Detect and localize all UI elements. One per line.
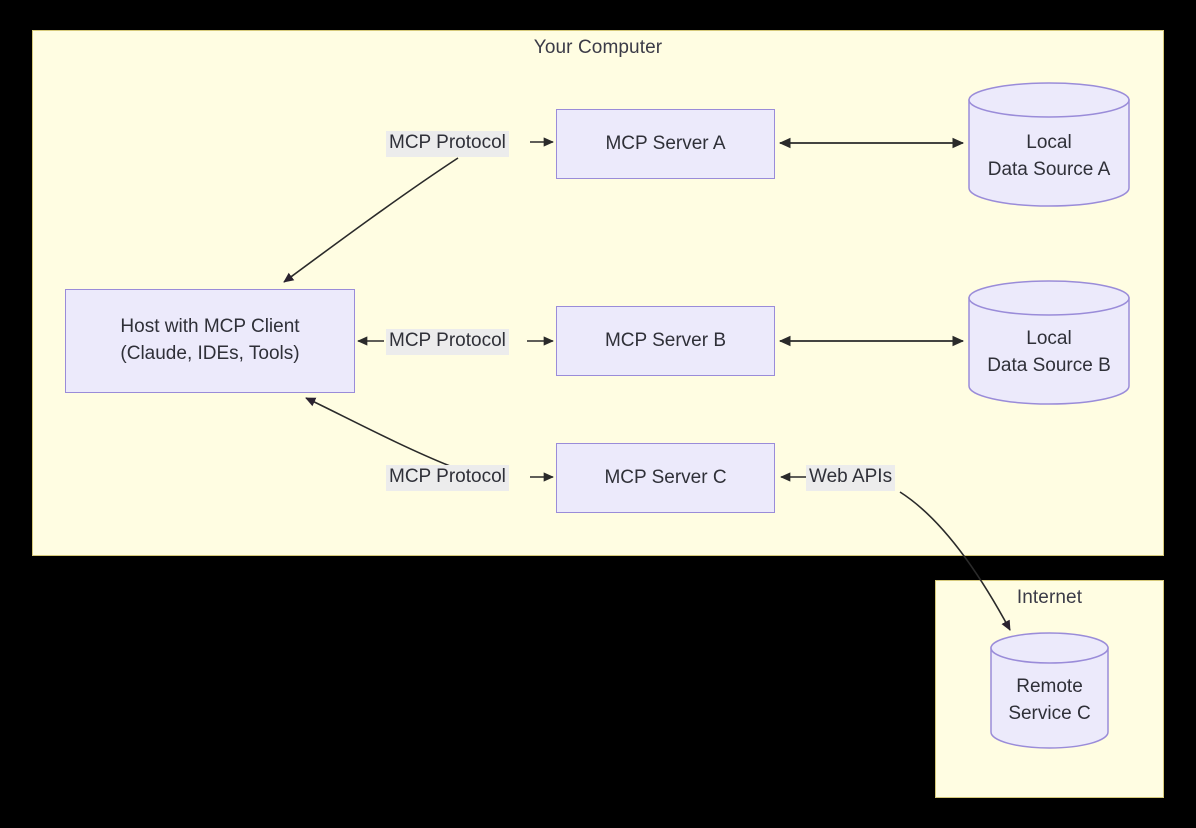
cylinder-shape-b bbox=[968, 280, 1130, 404]
edge-label-web-apis: Web APIs bbox=[806, 465, 895, 491]
node-mcp-server-a-label: MCP Server A bbox=[605, 131, 725, 158]
node-host-with-mcp-client[interactable]: Host with MCP Client (Claude, IDEs, Tool… bbox=[65, 289, 355, 393]
panel-internet-title: Internet bbox=[936, 587, 1163, 609]
node-mcp-server-c[interactable]: MCP Server C bbox=[556, 443, 775, 513]
node-host-line1: Host with MCP Client bbox=[120, 314, 299, 341]
node-mcp-server-a[interactable]: MCP Server A bbox=[556, 109, 775, 179]
cylinder-shape-a bbox=[968, 82, 1130, 206]
cylinder-shape-remote-c bbox=[990, 632, 1109, 749]
panel-your-computer-title: Your Computer bbox=[33, 37, 1163, 59]
node-mcp-server-b[interactable]: MCP Server B bbox=[556, 306, 775, 376]
node-remote-service-c[interactable]: Remote Service C bbox=[990, 632, 1109, 749]
node-mcp-server-b-label: MCP Server B bbox=[605, 328, 726, 355]
node-mcp-server-c-label: MCP Server C bbox=[604, 465, 726, 492]
node-host-line2: (Claude, IDEs, Tools) bbox=[120, 341, 299, 368]
node-local-data-source-a[interactable]: Local Data Source A bbox=[968, 82, 1130, 206]
node-local-data-source-b[interactable]: Local Data Source B bbox=[968, 280, 1130, 404]
edge-label-mcp-protocol-c: MCP Protocol bbox=[386, 465, 509, 491]
diagram-canvas: Your Computer Internet bbox=[0, 0, 1196, 828]
edge-label-mcp-protocol-b: MCP Protocol bbox=[386, 329, 509, 355]
edge-label-mcp-protocol-a: MCP Protocol bbox=[386, 131, 509, 157]
